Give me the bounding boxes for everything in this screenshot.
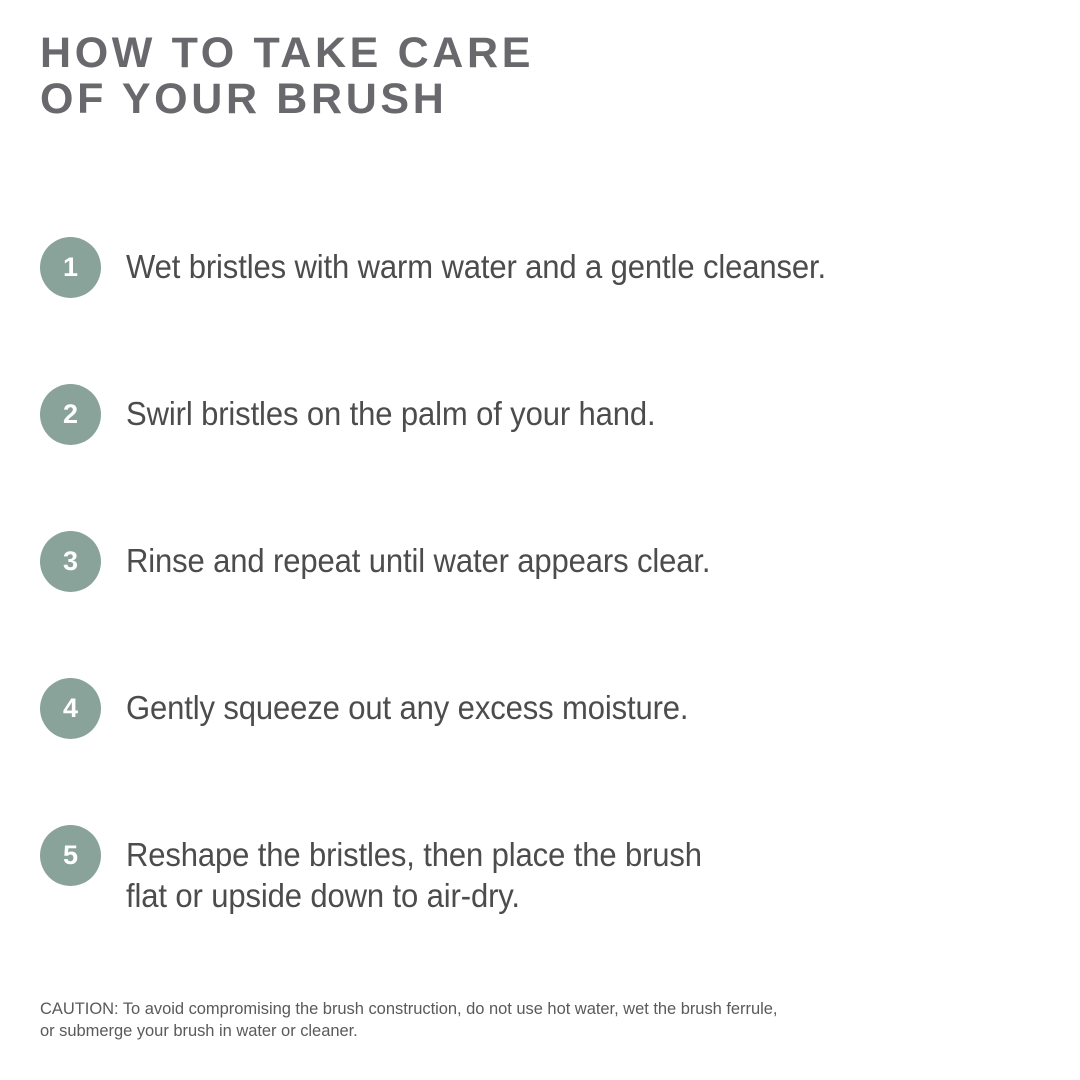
step-number-4: 4: [63, 695, 78, 722]
list-item: 4 Gently squeeze out any excess moisture…: [40, 678, 1040, 825]
step-text-5: Reshape the bristles, then place the bru…: [126, 834, 702, 916]
list-item: 2 Swirl bristles on the palm of your han…: [40, 384, 1040, 531]
caution-note: CAUTION: To avoid compromising the brush…: [40, 998, 1000, 1042]
step-number-2: 2: [63, 401, 78, 428]
step-number-badge-1: 1: [40, 237, 101, 298]
step-text-1: Wet bristles with warm water and a gentl…: [126, 246, 826, 287]
step-text-3: Rinse and repeat until water appears cle…: [126, 540, 710, 581]
step-text-4: Gently squeeze out any excess moisture.: [126, 687, 688, 728]
step-number-badge-5: 5: [40, 825, 101, 886]
steps-list: 1 Wet bristles with warm water and a gen…: [40, 237, 1040, 916]
list-item: 3 Rinse and repeat until water appears c…: [40, 531, 1040, 678]
brush-care-poster: HOW TO TAKE CARE OF YOUR BRUSH 1 Wet bri…: [0, 0, 1080, 1080]
step-number-badge-2: 2: [40, 384, 101, 445]
step-number-5: 5: [63, 842, 78, 869]
page-title-text: HOW TO TAKE CARE OF YOUR BRUSH: [40, 30, 960, 122]
list-item: 5 Reshape the bristles, then place the b…: [40, 825, 1040, 916]
step-text-2: Swirl bristles on the palm of your hand.: [126, 393, 656, 434]
step-number-3: 3: [63, 548, 78, 575]
step-number-badge-4: 4: [40, 678, 101, 739]
page-title: HOW TO TAKE CARE OF YOUR BRUSH: [40, 30, 960, 122]
step-number-1: 1: [63, 254, 78, 281]
list-item: 1 Wet bristles with warm water and a gen…: [40, 237, 1040, 384]
step-number-badge-3: 3: [40, 531, 101, 592]
